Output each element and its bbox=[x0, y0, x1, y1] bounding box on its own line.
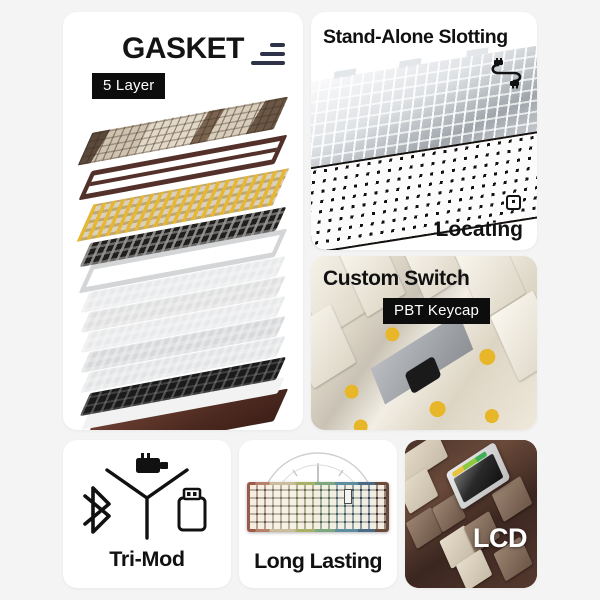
usb-connector-icon bbox=[179, 489, 205, 530]
badge-5-layer: 5 Layer bbox=[92, 73, 165, 99]
slotting-title: Stand-Alone Slotting bbox=[323, 26, 527, 49]
panel-custom-switch[interactable]: Custom Switch PBT Keycap bbox=[311, 256, 537, 430]
cable-icon bbox=[489, 58, 525, 90]
locating-title: Locating bbox=[436, 218, 524, 242]
long-lasting-label: Long Lasting bbox=[239, 549, 397, 574]
bluetooth-icon bbox=[85, 488, 109, 532]
layers-icon bbox=[251, 43, 285, 69]
square-bracket-icon bbox=[506, 195, 521, 210]
tri-mod-connectivity-icons bbox=[63, 452, 231, 544]
keyboard-photo bbox=[247, 482, 389, 532]
tri-mod-label: Tri-Mod bbox=[63, 547, 231, 572]
panel-long-lasting[interactable]: Long Lasting bbox=[239, 440, 397, 588]
badge-pbt-keycap: PBT Keycap bbox=[383, 298, 490, 324]
panel-tri-mod[interactable]: Tri-Mod bbox=[63, 440, 231, 588]
panel-lcd[interactable]: LCD bbox=[405, 440, 537, 588]
panel-stand-alone-slotting[interactable]: Stand-Alone Slotting Locating bbox=[311, 12, 537, 250]
lcd-keyboard-closeup-photo bbox=[405, 440, 537, 588]
usb-dongle-icon bbox=[136, 453, 168, 473]
lcd-label: LCD bbox=[473, 523, 527, 554]
custom-switch-title: Custom Switch bbox=[323, 267, 469, 291]
product-feature-collage: GASKET 5 Layer bbox=[0, 0, 600, 600]
exploded-keyboard-stack bbox=[63, 108, 303, 426]
panel-gasket[interactable]: GASKET 5 Layer bbox=[63, 12, 303, 430]
